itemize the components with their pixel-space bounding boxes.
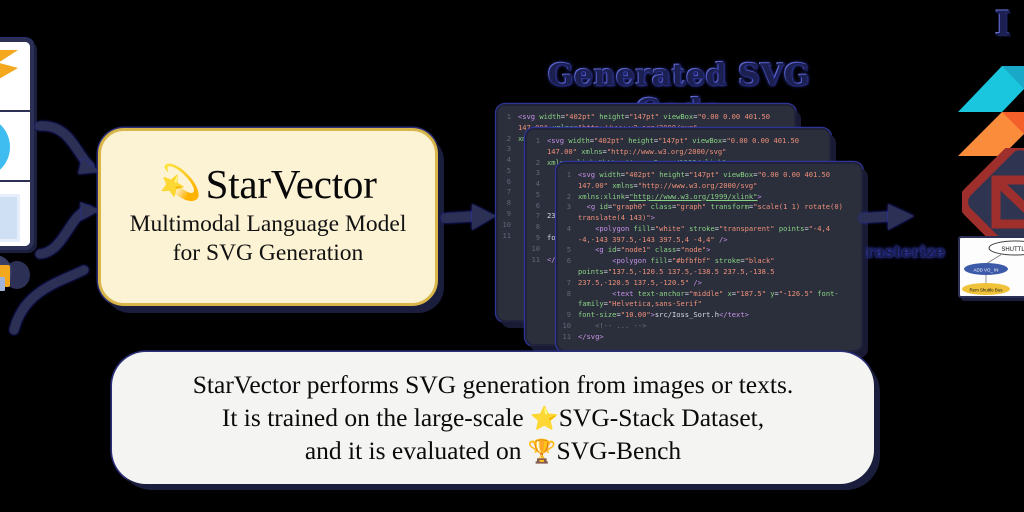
line-number: 2: [498, 134, 518, 145]
line-number: 5: [498, 166, 518, 177]
code-text: <polygon fill="#bfbfbf" stroke="black" p…: [578, 256, 856, 278]
line-number: 11: [527, 255, 547, 266]
rasterize-label: rasterize: [866, 242, 945, 261]
code-text: <!-- ... -->: [578, 321, 856, 332]
line-number: 8: [498, 198, 518, 209]
caption-line-2: It is trained on the large-scale ⭐SVG-St…: [222, 402, 764, 434]
code-text: <g id="graph0" class="graph" transform="…: [578, 202, 856, 224]
line-number: 2: [527, 158, 547, 169]
code-line: 9font-size="10.00">src/Ioss_Sort.h</text…: [558, 310, 856, 321]
blue-play-circle-thumbnail: [0, 112, 30, 182]
line-number: 6: [498, 177, 518, 188]
play-circle-icon: [0, 116, 10, 178]
code-line: 8 <text text-anchor="middle" x="187.5" y…: [558, 289, 856, 311]
line-number: 7: [498, 187, 518, 198]
line-number: 10: [498, 220, 518, 231]
code-line: 10 <!-- ... -->: [558, 321, 856, 332]
code-text: <svg width="402pt" height="147pt" viewBo…: [578, 170, 856, 192]
orange-arrow-thumbnail: [0, 42, 30, 112]
figure-canvas: 💫 StarVector Multimodal Language Model f…: [0, 0, 1024, 512]
trophy-emoji-icon: 🏆: [528, 439, 557, 464]
line-number: 10: [558, 321, 578, 332]
page-title: StarVector: [206, 160, 377, 208]
caption-line-3-post: SVG-Bench: [557, 436, 682, 465]
line-number: 3: [558, 202, 578, 213]
star-swirl-icon: 💫: [159, 167, 201, 201]
code-text: font-size="10.00">src/Ioss_Sort.h</text>: [578, 310, 856, 321]
model-subtitle-line-1: Multimodal Language Model: [130, 210, 407, 239]
line-number: 9: [498, 209, 518, 220]
line-number: 11: [558, 332, 578, 343]
code-text: <polygon fill="white" stroke="transparen…: [578, 224, 856, 246]
line-number: 2: [558, 192, 578, 203]
code-line: 1<svg width="402pt" height="147pt" viewB…: [558, 170, 856, 192]
line-number: 9: [558, 310, 578, 321]
orange-triangle-secondary-icon: [0, 50, 18, 76]
line-number: 4: [527, 179, 547, 190]
arrow-input-bottom: [10, 246, 106, 336]
light-blue-square-thumbnail: [0, 182, 30, 250]
line-number: 11: [498, 231, 518, 242]
mini-gray-icon: [0, 277, 5, 291]
caption-line-2-pre: It is trained on the large-scale: [222, 403, 530, 432]
line-number: 1: [527, 136, 547, 147]
partial-right-label: I: [995, 4, 1011, 44]
code-line: 6 <polygon fill="#bfbfbf" stroke="black"…: [558, 256, 856, 278]
line-number: 3: [498, 144, 518, 155]
line-number: 6: [527, 201, 547, 212]
line-number: 8: [527, 222, 547, 233]
line-number: 5: [527, 190, 547, 201]
code-text: xmlns:xlink="http://www.w3.org/1999/xlin…: [578, 192, 856, 203]
line-number: 9: [527, 233, 547, 244]
input-thumbnail-stack: [0, 38, 34, 250]
line-number: 4: [558, 224, 578, 235]
arrow-input-top: [36, 120, 106, 190]
svg-text:ADD VO_ IN: ADD VO_ IN: [974, 268, 999, 273]
caption-line-3: and it is evaluated on 🏆SVG-Bench: [305, 435, 681, 467]
code-text: <svg width="402pt" height="147pt" viewBo…: [547, 136, 824, 158]
arrow-model-to-code: [444, 196, 502, 242]
starvector-title-row: 💫 StarVector: [159, 160, 376, 208]
code-line: 1<svg width="402pt" height="147pt" viewB…: [527, 136, 824, 158]
code-text: <text text-anchor="middle" x="187.5" y="…: [578, 289, 856, 311]
star-emoji-icon: ⭐: [530, 406, 559, 431]
line-number: 7: [527, 211, 547, 222]
caption-line-1: StarVector performs SVG generation from …: [193, 369, 794, 401]
line-number: 5: [558, 245, 578, 256]
code-text: 237.5,-120.5 137.5,-120.5" />: [578, 278, 856, 289]
line-number: 1: [558, 170, 578, 181]
line-number: 6: [558, 256, 578, 267]
graph-root-label: SHUTTLE: [1001, 247, 1024, 253]
svg-text:Rem Shuttle Bus: Rem Shuttle Bus: [970, 288, 1004, 293]
code-panel-front[interactable]: 1<svg width="402pt" height="147pt" viewB…: [556, 162, 863, 352]
line-number: 10: [527, 244, 547, 255]
code-line: 7237.5,-120.5 137.5,-120.5" />: [558, 278, 856, 289]
line-number: 4: [498, 155, 518, 166]
line-number: 7: [558, 278, 578, 289]
model-subtitle-line-2: for SVG Generation: [173, 239, 364, 268]
arrow-code-to-rasterize: [862, 198, 922, 246]
line-number: 8: [558, 289, 578, 300]
starvector-model-card[interactable]: 💫 StarVector Multimodal Language Model f…: [98, 128, 438, 306]
caption-box: StarVector performs SVG generation from …: [112, 352, 874, 484]
code-line: 2xmlns:xlink="http://www.w3.org/1999/xli…: [558, 192, 856, 203]
caption-line-3-pre: and it is evaluated on: [305, 436, 528, 465]
caption-line-2-post: SVG-Stack Dataset,: [559, 403, 764, 432]
shuttle-graph-output: SHUTTLE ADD VO_ IN LOCH VO_ OF Rem Shutt…: [958, 236, 1024, 298]
code-text: <g id="node1" class="node">: [578, 245, 856, 256]
code-line: 5 <g id="node1" class="node">: [558, 245, 856, 256]
line-number: 3: [527, 168, 547, 179]
code-line: 11</svg>: [558, 332, 856, 343]
code-line: 3 <g id="graph0" class="graph" transform…: [558, 202, 856, 224]
light-square-icon: [0, 194, 20, 242]
code-line: 4 <polygon fill="white" stroke="transpar…: [558, 224, 856, 246]
code-text: </svg>: [578, 332, 856, 343]
line-number: 1: [498, 112, 518, 123]
